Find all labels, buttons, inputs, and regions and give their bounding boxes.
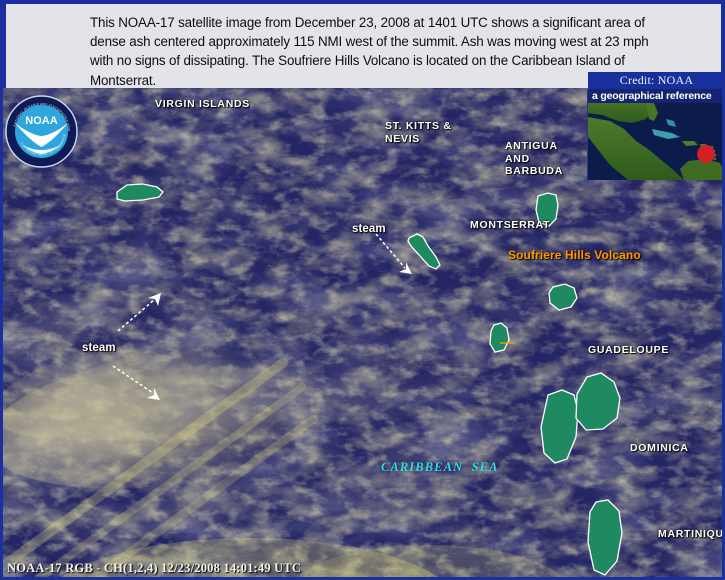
credit-banner: Credit: NOAA [588,72,725,89]
map-label-guadeloupe: GUADELOUPE [588,344,669,357]
satellite-image-figure: NOAA NATIONAL OCEANIC AND ATMOSPHERIC AD… [0,0,725,580]
credit-label: Credit: NOAA [620,73,693,88]
geographical-reference-inset[interactable]: a geographical reference [587,89,725,180]
map-label-montserrat: MONTSERRAT [470,219,550,232]
map-label-steam-left: steam [82,342,116,355]
map-label-st-kitts-nevis: ST. KITTS & NEVIS [385,120,452,145]
inset-title-bar: a geographical reference [588,89,725,103]
noaa-seal-logo: NOAA NATIONAL OCEANIC AND ATMOSPHERIC AD… [5,95,78,168]
inset-location-marker [697,145,715,163]
map-label-steam-upper: steam [352,223,386,236]
caption-text: This NOAA-17 satellite image from Decemb… [90,13,650,90]
map-label-antigua-barbuda: ANTIGUA AND BARBUDA [505,140,563,178]
map-label-caribbean-sea: CARIBBEAN SEA [381,461,499,474]
map-label-dominica: DOMINICA [630,442,689,455]
map-label-virgin-islands: VIRGIN ISLANDS [155,98,250,111]
map-label-martinique: MARTINIQUE [658,528,725,541]
image-timestamp-stamp: NOAA-17 RGB - CH(1,2,4) 12/23/2008 14:01… [7,561,301,576]
seal-wordmark: NOAA [25,115,57,127]
map-label-volcano: Soufriere Hills Volcano [508,249,641,262]
inset-title-label: a geographical reference [588,90,712,102]
